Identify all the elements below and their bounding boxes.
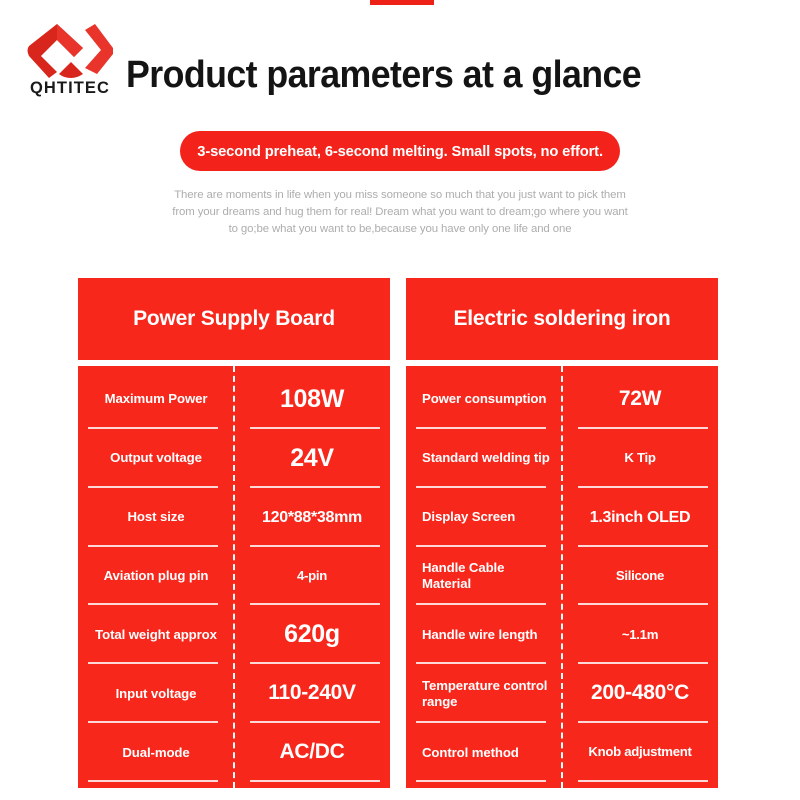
spec-value-cell: Knob adjustment	[562, 723, 718, 782]
spec-label-cell: Power consumption	[406, 370, 562, 429]
spec-value: 4-pin	[297, 569, 327, 583]
spec-value: Knob adjustment	[588, 745, 691, 759]
spec-label-cell: Temperature control range	[406, 664, 562, 723]
description-paragraph: There are moments in life when you miss …	[170, 187, 630, 238]
highlight-banner-text: 3-second preheat, 6-second melting. Smal…	[197, 143, 603, 160]
table-row: Maximum Power 108W	[78, 370, 390, 429]
spec-label-cell: Dual-mode	[78, 723, 234, 782]
highlight-banner: 3-second preheat, 6-second melting. Smal…	[180, 131, 620, 171]
spec-label: Input voltage	[116, 686, 197, 702]
table-row: Standard welding tip K Tip	[406, 429, 718, 488]
spec-value-cell: 24V	[234, 429, 390, 488]
spec-table-body: Power consumption 72W Standard welding t…	[406, 366, 718, 788]
spec-label: Power consumption	[422, 391, 546, 407]
spec-value-cell: 72W	[562, 370, 718, 429]
spec-label-cell: Standard welding tip	[406, 429, 562, 488]
spec-label: Maximum Power	[105, 391, 208, 407]
spec-value: 620g	[284, 621, 340, 648]
spec-table-title: Electric soldering iron	[453, 307, 670, 331]
spec-label: Temperature control range	[422, 678, 554, 710]
table-row: Control method Knob adjustment	[406, 723, 718, 782]
spec-label-cell: Host size	[78, 488, 234, 547]
spec-value: ~1.1m	[622, 628, 658, 642]
table-row: Host size 120*88*38mm	[78, 488, 390, 547]
spec-label-cell: Handle Cable Material	[406, 547, 562, 606]
spec-table-header: Power Supply Board	[78, 278, 390, 360]
spec-label-cell: Control method	[406, 723, 562, 782]
table-row: Handle Cable Material Silicone	[406, 547, 718, 606]
table-row: Power consumption 72W	[406, 370, 718, 429]
qhtitec-diamond-logo-icon	[27, 22, 113, 78]
spec-value: AC/DC	[280, 741, 345, 764]
spec-value-cell: K Tip	[562, 429, 718, 488]
spec-label: Handle wire length	[422, 627, 537, 643]
table-row: Input voltage 110-240V	[78, 664, 390, 723]
spec-value: Silicone	[616, 569, 664, 583]
spec-label: Total weight approx	[95, 627, 217, 643]
brand-wordmark: QHTITEC	[30, 80, 110, 97]
spec-value-cell: 1.3inch OLED	[562, 488, 718, 547]
spec-value-cell: 200-480°C	[562, 664, 718, 723]
spec-label: Host size	[128, 509, 185, 525]
spec-value-cell: Silicone	[562, 547, 718, 606]
spec-value-cell: 620g	[234, 605, 390, 664]
top-accent-bar	[370, 0, 434, 5]
spec-value-cell: 108W	[234, 370, 390, 429]
spec-label-cell: Maximum Power	[78, 370, 234, 429]
table-row: Display Screen 1.3inch OLED	[406, 488, 718, 547]
spec-value-cell: 4-pin	[234, 547, 390, 606]
spec-label-cell: Display Screen	[406, 488, 562, 547]
spec-label: Control method	[422, 745, 519, 761]
spec-label-cell: Aviation plug pin	[78, 547, 234, 606]
table-row: Dual-mode AC/DC	[78, 723, 390, 782]
spec-label: Standard welding tip	[422, 450, 550, 466]
spec-value: K Tip	[624, 451, 655, 465]
spec-value: 24V	[290, 445, 334, 472]
spec-value: 120*88*38mm	[262, 509, 362, 526]
infographic-page: QHTITEC Product parameters at a glance 3…	[0, 0, 800, 800]
spec-value-cell: 120*88*38mm	[234, 488, 390, 547]
spec-table-header: Electric soldering iron	[406, 278, 718, 360]
spec-value: 72W	[619, 388, 661, 411]
table-row: Temperature control range 200-480°C	[406, 664, 718, 723]
spec-table-power-supply-board: Power Supply Board Maximum Power 108W Ou…	[78, 278, 390, 788]
page-header: QHTITEC Product parameters at a glance	[0, 14, 800, 114]
table-row: Handle wire length ~1.1m	[406, 605, 718, 664]
page-title: Product parameters at a glance	[126, 54, 641, 97]
spec-label: Display Screen	[422, 509, 515, 525]
brand-logo: QHTITEC	[22, 22, 118, 104]
table-row: Aviation plug pin 4-pin	[78, 547, 390, 606]
spec-label-cell: Output voltage	[78, 429, 234, 488]
table-row: Total weight approx 620g	[78, 605, 390, 664]
spec-value-cell: 110-240V	[234, 664, 390, 723]
spec-value: 110-240V	[268, 682, 356, 705]
spec-value-cell: AC/DC	[234, 723, 390, 782]
spec-label: Handle Cable Material	[422, 560, 554, 592]
spec-label-cell: Total weight approx	[78, 605, 234, 664]
spec-value: 108W	[280, 386, 344, 413]
spec-table-body: Maximum Power 108W Output voltage 24V Ho…	[78, 366, 390, 788]
spec-table-title: Power Supply Board	[133, 307, 335, 331]
spec-label: Dual-mode	[122, 745, 189, 761]
spec-value: 200-480°C	[591, 682, 689, 705]
table-row: Output voltage 24V	[78, 429, 390, 488]
spec-value-cell: ~1.1m	[562, 605, 718, 664]
spec-value: 1.3inch OLED	[590, 509, 690, 526]
spec-table-electric-soldering-iron: Electric soldering iron Power consumptio…	[406, 278, 718, 788]
spec-label-cell: Handle wire length	[406, 605, 562, 664]
spec-label: Output voltage	[110, 450, 202, 466]
spec-label-cell: Input voltage	[78, 664, 234, 723]
spec-label: Aviation plug pin	[104, 568, 209, 584]
